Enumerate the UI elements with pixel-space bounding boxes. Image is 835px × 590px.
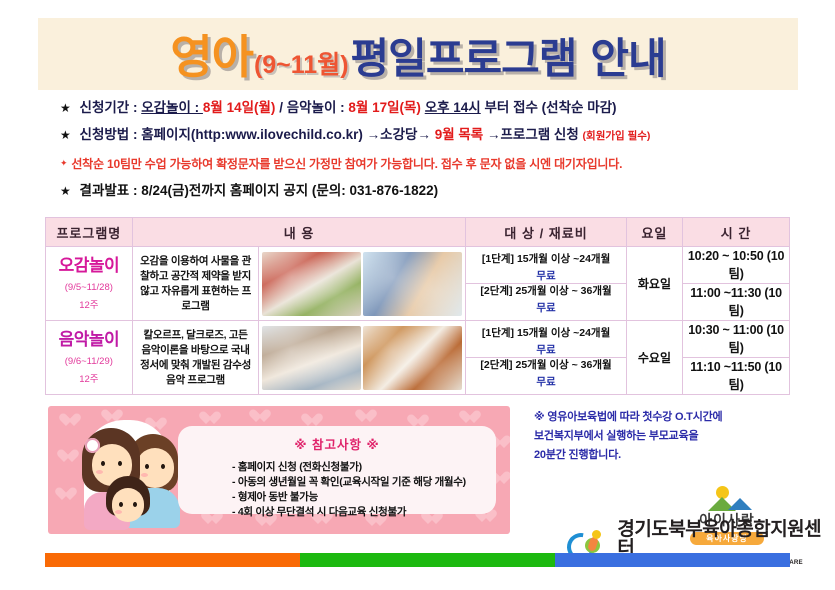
time-subrow: 11:10 ~11:50 (10팀) [683,358,789,395]
info-line-apply-method: ★ 신청방법 : 홈페이지(http:www.ilovechild.co.kr)… [60,127,800,144]
notes-box: ※ 참고사항 ※ 홈페이지 신청 (전화신청불가) 아동의 생년월일 꼭 확인(… [48,406,510,534]
notes-list: 홈페이지 신청 (전화신청불가) 아동의 생년월일 꼭 확인(교육시작일 기준 … [192,460,496,520]
target-stage-1-text: [1단계] 15개월 이상 ~24개월 [482,327,610,339]
cell-time: 10:30 ~ 11:00 (10팀) 11:10 ~11:50 (10팀) [683,321,790,395]
time-subrow: 10:20 ~ 10:50 (10팀) [683,247,789,284]
target-stage-2: [2단계] 25개월 이상 ~ 36개월 무료 [466,284,625,316]
center-logo-yellow-dot-icon [592,530,601,539]
program-weeks: 12주 [46,300,132,312]
program-table: 프로그램명 내 용 대 상 / 재료비 요일 시 간 오감놀이 (9/5~11/… [45,217,790,395]
parent-education-line-3: 20분간 진행합니다. [534,446,804,465]
time-subrow: 10:30 ~ 11:00 (10팀) [683,321,789,358]
program-description-text: 오감을 이용하여 사물을 관찰하고 공간적 제약을 받지 않고 자유롭게 표현하… [133,250,259,318]
table-row: 오감놀이 (9/5~11/28) 12주 오감을 이용하여 사물을 관찰하고 공… [46,247,790,321]
target-stage-1: [1단계] 15개월 이상 ~24개월 무료 [466,252,625,284]
program-photo-1 [262,326,361,390]
time-slot-1: 10:20 ~ 10:50 (10팀) [683,247,789,284]
program-photo-2 [363,252,462,316]
program-name-text: 오감놀이 [46,256,132,276]
cell-program-description: 칼오르프, 달크로즈, 고든 음악이론을 바탕으로 국내 정서에 맞춰 개발된 … [132,321,259,395]
apply-period-program-a: 오감놀이 : [141,100,203,115]
bullet-star-icon: ★ [60,184,71,198]
bullet-star-icon: ★ [60,128,71,142]
list-item: 형제아 동반 불가능 [232,490,496,505]
col-header-target-fee: 대 상 / 재료비 [466,218,626,247]
info-line-warning: ✦선착순 10팀만 수업 가능하여 확정문자를 받으신 가정만 참여가 가능합니… [60,155,800,172]
target-stage-1-fee: 무료 [466,343,625,357]
mother-eye-right [118,461,122,466]
mother-eye-left [101,461,105,466]
target-stage-2-text: [2단계] 25개월 이상 ~ 36개월 [480,285,611,297]
result-text: 8/24(금)전까지 홈페이지 공지 (문의: 031-876-1822) [141,183,438,198]
cell-target-fee: [1단계] 15개월 이상 ~24개월 무료 [2단계] 25개월 이상 ~ 3… [466,321,626,395]
cell-program-name: 오감놀이 (9/5~11/28) 12주 [46,247,133,321]
col-header-content: 내 용 [132,218,466,247]
apply-period-date-a: 8월 14일(월) [203,100,276,115]
program-photo-1 [262,252,361,316]
cell-target-fee: [1단계] 15개월 이상 ~24개월 무료 [2단계] 25개월 이상 ~ 3… [466,247,626,321]
title-main: 평일프로그램 [351,25,577,86]
program-date-range: (9/5~11/28) [46,282,132,294]
father-eye-left [145,464,149,469]
program-description-text: 칼오르프, 달크로즈, 고든 음악이론을 바탕으로 국내 정서에 맞춰 개발된 … [133,324,259,392]
warning-text: 선착순 10팀만 수업 가능하여 확정문자를 받으신 가정만 참여가 가능합니다… [71,157,622,171]
info-line-result: ★ 결과발표 : 8/24(금)전까지 홈페이지 공지 (문의: 031-876… [60,183,800,199]
time-subrow: 11:00 ~11:30 (10팀) [683,284,789,321]
photo-strip [259,323,465,393]
program-weeks: 12주 [46,374,132,386]
heart-icon [458,411,474,425]
target-stage-2-fee: 무료 [466,375,625,389]
col-header-day: 요일 [626,218,682,247]
apply-period-time: 오후 14시 [425,100,481,115]
cell-program-photos [259,247,466,321]
apply-period-label: 신청기간 : [80,100,142,115]
apply-period-separator: / [279,100,287,115]
info-line-apply-period: ★ 신청기간 : 오감놀이 : 8월 14일(월) / 음악놀이 : 8월 17… [60,100,800,116]
photo-strip [259,249,465,319]
apply-method-membership-note: (회원가입 필수) [583,130,651,142]
target-stage-2-fee: 무료 [466,301,625,315]
cell-program-photos [259,321,466,395]
parent-education-line-1: ※ 영유아보육법에 따라 첫수강 O.T시간에 [534,408,804,427]
target-stage-2: [2단계] 25개월 이상 ~ 36개월 무료 [466,358,625,390]
isarang-blue-wing-icon [728,498,752,510]
title-suffix: 안내 [590,25,665,86]
cell-day: 화요일 [626,247,682,321]
heart-icon [248,410,264,424]
father-eye-right [161,464,165,469]
bar-segment-green [300,553,555,567]
apply-method-path-a: →소강당→ [367,127,431,142]
child-eye-right [133,502,137,507]
flower-hairpin-icon [85,438,100,453]
cell-program-description: 오감을 이용하여 사물을 관찰하고 공간적 제약을 받지 않고 자유롭게 표현하… [132,247,259,321]
program-date-range: (9/6~11/29) [46,356,132,368]
notes-content-panel: ※ 참고사항 ※ 홈페이지 신청 (전화신청불가) 아동의 생년월일 꼭 확인(… [178,426,496,514]
time-slot-1: 10:30 ~ 11:00 (10팀) [683,321,789,358]
time-slot-2: 11:10 ~11:50 (10팀) [683,358,789,395]
table-header-row: 프로그램명 내 용 대 상 / 재료비 요일 시 간 [46,218,790,247]
bottom-color-bar [45,553,790,567]
cell-time: 10:20 ~ 10:50 (10팀) 11:00 ~11:30 (10팀) [683,247,790,321]
heart-icon [198,412,214,426]
header-title: 영아 (9~11월) 평일프로그램 안내 [170,21,665,87]
apply-period-program-b: 음악놀이 : [287,100,349,115]
day-text: 수요일 [638,351,671,365]
apply-period-date-b: 8월 17일(목) [348,100,421,115]
heart-icon [354,410,370,424]
target-subrow: [1단계] 15개월 이상 ~24개월 무료 [466,252,625,284]
parent-education-note: ※ 영유아보육법에 따라 첫수강 O.T시간에 보건복지부에서 실행하는 부모교… [534,408,804,465]
apply-period-tail: 부터 접수 (선착순 마감) [485,100,617,115]
list-item: 홈페이지 신청 (전화신청불가) [232,460,496,475]
target-stage-2-text: [2단계] 25개월 이상 ~ 36개월 [480,359,611,371]
title-highlight: 영아 [170,21,253,87]
col-header-program-name: 프로그램명 [46,218,133,247]
family-illustration [62,414,182,530]
child-cheek [115,510,122,514]
list-item: 4회 이상 무단결석 시 다음교육 신청불가 [232,505,496,520]
program-name-text: 음악놀이 [46,330,132,350]
info-block: ★ 신청기간 : 오감놀이 : 8월 14일(월) / 음악놀이 : 8월 17… [60,100,800,210]
target-subrow: [2단계] 25개월 이상 ~ 36개월 무료 [466,284,625,316]
target-stage-1-text: [1단계] 15개월 이상 ~24개월 [482,253,610,265]
list-item: 아동의 생년월일 꼭 확인(교육시작일 기준 해당 개월수) [232,475,496,490]
father-cheek [141,473,148,477]
apply-method-path-b: →프로그램 신청 [487,127,579,142]
mother-cheek [96,470,103,474]
program-photo-2 [363,326,462,390]
target-subrow: [2단계] 25개월 이상 ~ 36개월 무료 [466,358,625,390]
header-banner: 영아 (9~11월) 평일프로그램 안내 [38,18,798,90]
bar-segment-orange [45,553,300,567]
col-header-time: 시 간 [683,218,790,247]
bar-segment-blue [555,553,790,567]
notes-title: ※ 참고사항 ※ [178,434,496,453]
warning-dot-icon: ✦ [60,158,67,168]
table-row: 음악놀이 (9/6~11/29) 12주 칼오르프, 달크로즈, 고든 음악이론… [46,321,790,395]
isarang-mark-icon [672,486,782,510]
child-face [112,488,144,522]
poster-page: 영아 (9~11월) 평일프로그램 안내 ★ 신청기간 : 오감놀이 : 8월 … [0,0,835,590]
day-text: 화요일 [638,277,671,291]
cell-program-name: 음악놀이 (9/6~11/29) 12주 [46,321,133,395]
target-stage-1: [1단계] 15개월 이상 ~24개월 무료 [466,326,625,358]
target-subrow: [1단계] 15개월 이상 ~24개월 무료 [466,326,625,358]
bullet-star-icon: ★ [60,101,71,115]
result-label: 결과발표 : [80,183,142,198]
cell-day: 수요일 [626,321,682,395]
apply-method-site-link[interactable]: 홈페이지(http:www.ilovechild.co.kr) [141,127,363,142]
apply-method-path-highlight: 9월 목록 [435,127,484,142]
child-eye-left [119,502,123,507]
apply-method-label: 신청방법 : [80,127,142,142]
target-stage-1-fee: 무료 [466,269,625,283]
parent-education-line-2: 보건복지부에서 실행하는 부모교육을 [534,427,804,446]
time-slot-2: 11:00 ~11:30 (10팀) [683,284,789,321]
title-period: (9~11월) [254,45,349,81]
